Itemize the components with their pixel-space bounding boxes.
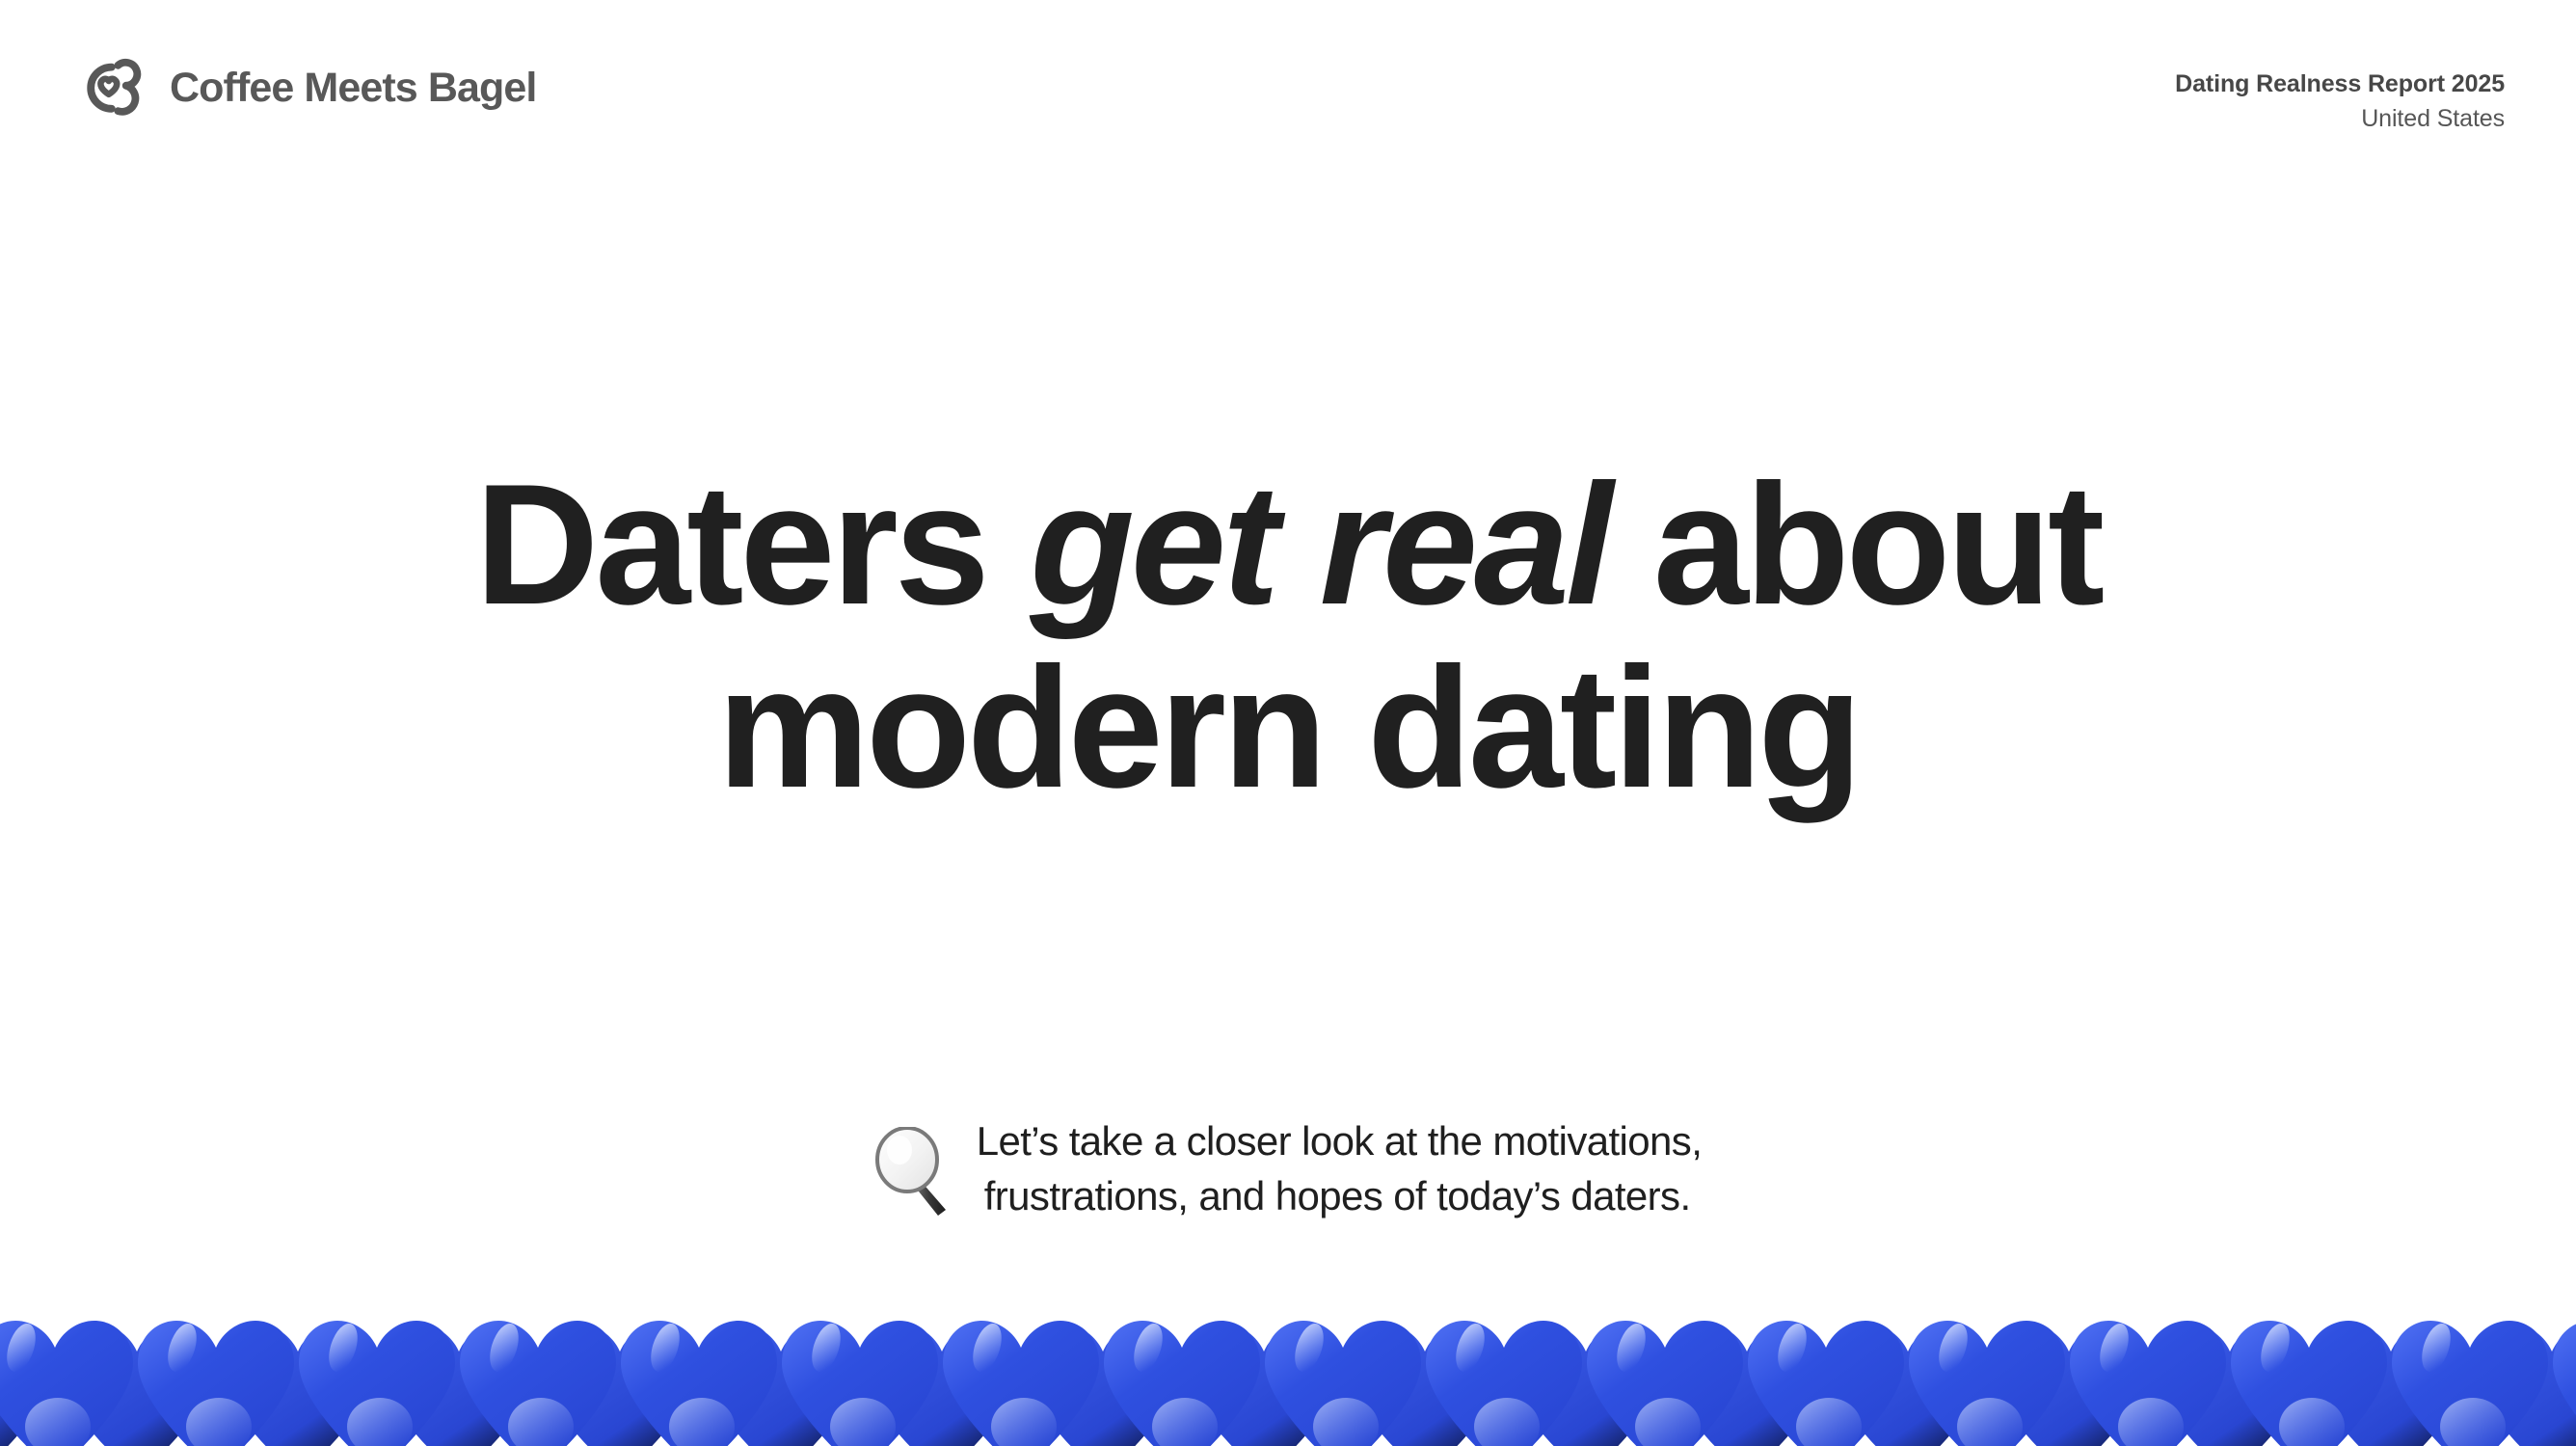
report-meta: Dating Realness Report 2025 United State…	[2175, 67, 2505, 136]
slide-canvas: Coffee Meets Bagel Dating Realness Repor…	[0, 0, 2576, 1446]
headline-emphasis: get real	[1030, 448, 1609, 640]
brand-name: Coffee Meets Bagel	[170, 67, 536, 109]
headline-text-a: Daters	[475, 448, 1031, 640]
cmb-heart-logo-icon	[75, 58, 145, 118]
headline-line-1: Daters get real about	[0, 453, 2576, 636]
headline-text-b: about	[1609, 448, 2101, 640]
subtitle-line-2: frustrations, and hopes of today’s dater…	[977, 1168, 1703, 1223]
headline-line-2: modern dating	[0, 636, 2576, 819]
report-title: Dating Realness Report 2025	[2175, 67, 2505, 102]
brand-lockup: Coffee Meets Bagel	[75, 58, 536, 118]
page-title: Daters get real about modern dating	[0, 453, 2576, 820]
subtitle-block: Let’s take a closer look at the motivati…	[0, 1113, 2576, 1223]
report-region: United States	[2175, 102, 2505, 137]
magnifying-glass-icon	[874, 1127, 957, 1216]
blue-hearts-band	[0, 1319, 2576, 1446]
subtitle-text: Let’s take a closer look at the motivati…	[977, 1113, 1703, 1223]
subtitle-line-1: Let’s take a closer look at the motivati…	[977, 1113, 1703, 1168]
slide-header: Coffee Meets Bagel Dating Realness Repor…	[0, 0, 2576, 174]
